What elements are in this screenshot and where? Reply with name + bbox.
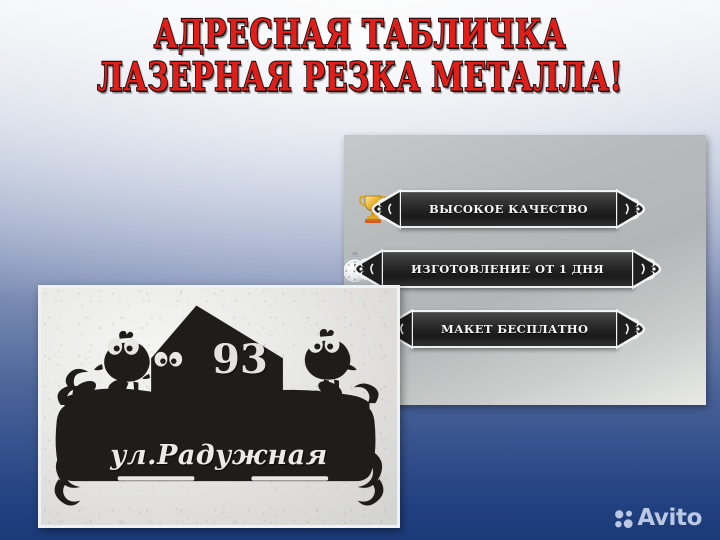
feature-item-freemockup: МАКЕТ БЕСПЛАТНО — [366, 307, 618, 351]
poster-canvas: АДРЕСНАЯ ТАБЛИЧКА ЛАЗЕРНАЯ РЕЗКА МЕТАЛЛА… — [0, 0, 720, 540]
plaque-freemockup: МАКЕТ БЕСПЛАТНО — [411, 310, 618, 348]
address-plate-silhouette — [41, 288, 397, 525]
feature-item-quality: ВЫСОКОЕ КАЧЕСТВО — [354, 187, 618, 231]
plaque-scroll-ornament-right — [616, 186, 646, 232]
avito-watermark: Avito — [614, 507, 702, 530]
plaque-scroll-ornament-left — [371, 186, 401, 232]
title-line-1: АДРЕСНАЯ ТАБЛИЧКА — [11, 16, 709, 56]
page-title: АДРЕСНАЯ ТАБЛИЧКА ЛАЗЕРНАЯ РЕЗКА МЕТАЛЛА… — [0, 16, 720, 89]
plaque-quality: ВЫСОКОЕ КАЧЕСТВО — [399, 190, 618, 228]
plaque-label-quality: ВЫСОКОЕ КАЧЕСТВО — [429, 202, 588, 216]
plaque-scroll-ornament-right — [632, 246, 662, 292]
plaque-label-leadtime: ИЗГОТОВЛЕНИЕ ОТ 1 ДНЯ — [411, 262, 604, 276]
avito-label: Avito — [637, 507, 702, 530]
address-plate-photo: 93 ул.Радужная — [38, 285, 400, 528]
title-line-2: ЛАЗЕРНАЯ РЕЗКА МЕТАЛЛА! — [11, 59, 709, 99]
plaque-scroll-ornament-right — [616, 306, 646, 352]
plaque-label-freemockup: МАКЕТ БЕСПЛАТНО — [441, 322, 588, 336]
plaque-leadtime: ИЗГОТОВЛЕНИЕ ОТ 1 ДНЯ — [381, 250, 634, 288]
avito-dots-icon — [614, 509, 634, 529]
